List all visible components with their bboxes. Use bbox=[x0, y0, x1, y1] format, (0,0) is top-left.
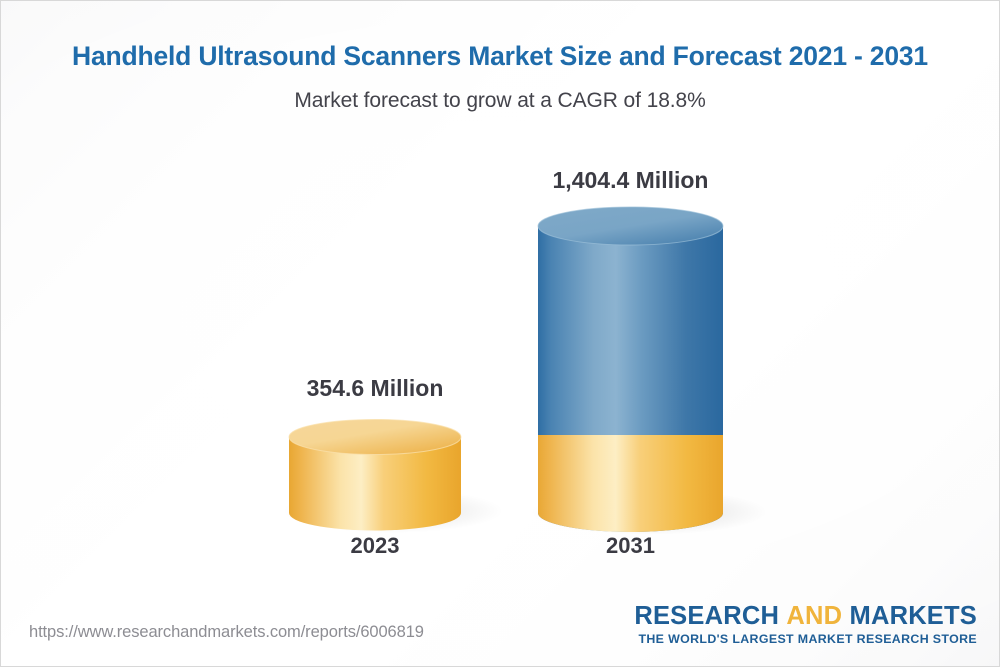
logo-word-and: AND bbox=[786, 602, 842, 630]
report-url[interactable]: https://www.researchandmarkets.com/repor… bbox=[29, 623, 424, 642]
logo-word-markets: MARKETS bbox=[850, 602, 977, 630]
bar-2031-body-gold bbox=[537, 435, 724, 535]
bar-category-label-2031: 2031 bbox=[538, 533, 723, 559]
bar-value-label-2031: 1,404.4 Million bbox=[538, 167, 723, 194]
bar-2023[interactable] bbox=[289, 420, 461, 531]
chart-page: Handheld Ultrasound Scanners Market Size… bbox=[0, 0, 1000, 667]
research-and-markets-logo[interactable]: RESEARCH AND MARKETS THE WORLD'S LARGEST… bbox=[634, 603, 977, 646]
logo-tagline: THE WORLD'S LARGEST MARKET RESEARCH STOR… bbox=[634, 632, 977, 646]
bar-value-label-2023: 354.6 Million bbox=[289, 375, 461, 402]
bar-category-label-2023: 2023 bbox=[289, 533, 461, 559]
page-title: Handheld Ultrasound Scanners Market Size… bbox=[1, 41, 999, 72]
bar-2031[interactable] bbox=[537, 207, 724, 535]
logo-wordmark: RESEARCH AND MARKETS bbox=[634, 603, 977, 630]
logo-word-research: RESEARCH bbox=[634, 602, 779, 630]
chart-subtitle: Market forecast to grow at a CAGR of 18.… bbox=[1, 89, 999, 113]
